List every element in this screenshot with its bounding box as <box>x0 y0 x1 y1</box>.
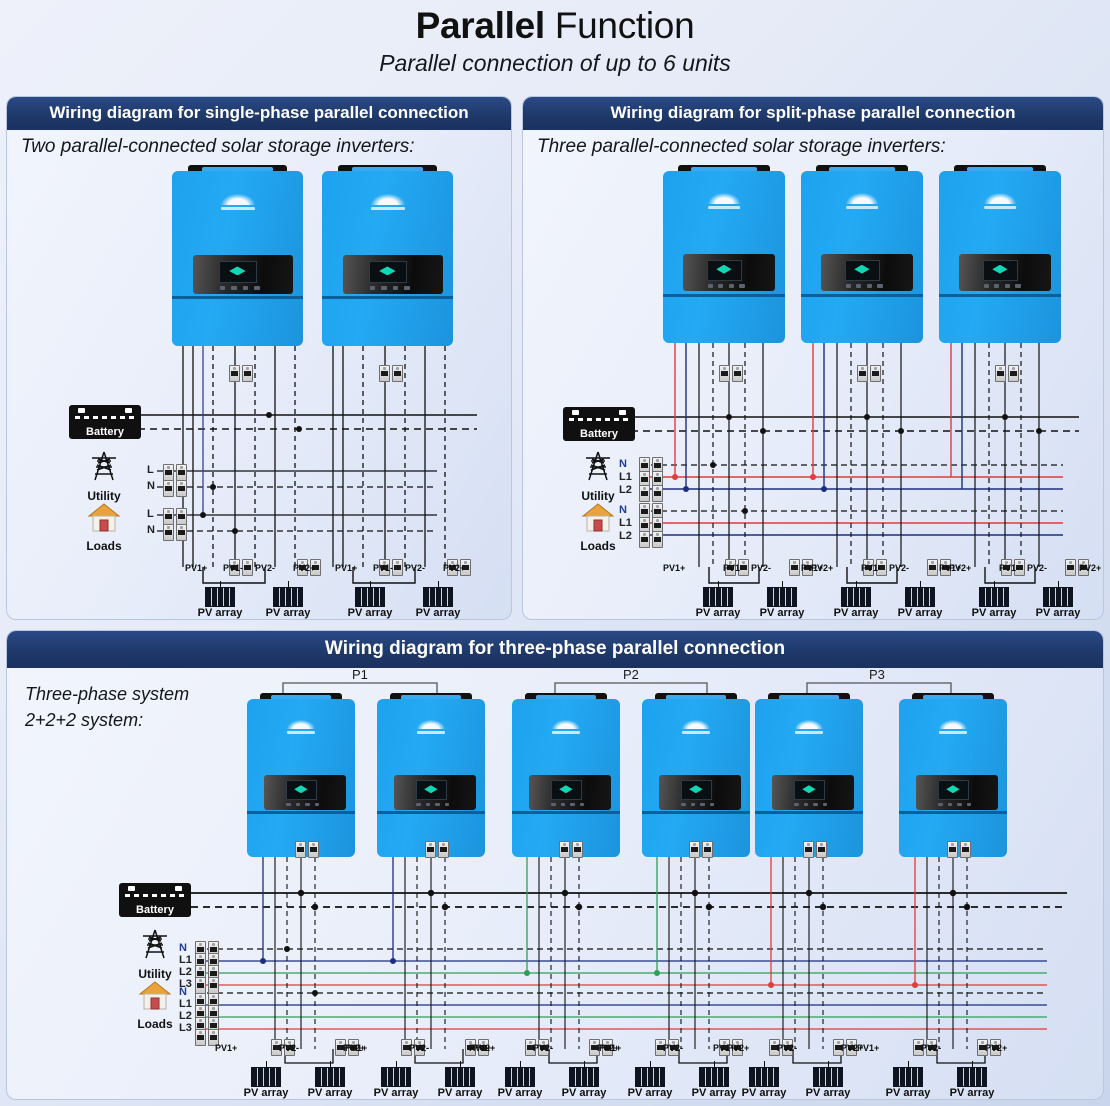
page-subtitle: Parallel connection of up to 6 units <box>0 50 1110 77</box>
pv-terminal-label: PV1+ <box>599 1043 621 1053</box>
utility-phase-label: L <box>147 464 154 476</box>
battery-label: Battery <box>69 426 141 438</box>
house-icon <box>87 501 121 533</box>
loads-block: Loads <box>123 979 187 1031</box>
pv-terminal-label: PV2- <box>1027 563 1047 573</box>
utility-block: Utility <box>73 449 135 503</box>
breaker[interactable] <box>229 365 253 382</box>
breaker[interactable] <box>425 841 449 858</box>
pv-terminal-label: PV1- <box>373 563 393 573</box>
loads-phase-label: L2 <box>619 530 632 542</box>
breaker[interactable] <box>163 464 187 481</box>
pv-array-caption: PV array <box>555 1087 613 1099</box>
pv-array-caption: PV array <box>879 1087 937 1099</box>
pv-module-icon <box>355 587 385 607</box>
page-title-rest: Function <box>545 5 695 46</box>
breaker[interactable] <box>639 485 663 502</box>
house-icon <box>581 501 615 533</box>
loads-phase-label: L3 <box>179 1022 192 1034</box>
pv-terminal-label: PV1+ <box>801 563 823 573</box>
page-title-bold: Parallel <box>416 5 545 46</box>
loads-phase-label: L2 <box>179 1010 192 1022</box>
pv-terminal-label: PV1+ <box>939 563 961 573</box>
pv-terminal-label: PV1+ <box>713 1043 735 1053</box>
loads-phase-label: L <box>147 508 154 520</box>
loads-phase-label: N <box>619 504 627 516</box>
breaker[interactable] <box>947 841 971 858</box>
pv-module-icon <box>813 1067 843 1087</box>
split-phase-diagram: Battery Utility Loads N L1 L2 N L1 L2 <box>523 97 1103 619</box>
panel-three-phase: Wiring diagram for three-phase parallel … <box>6 630 1104 1100</box>
pv-terminal-label: PV1- <box>999 563 1019 573</box>
loads-phase-label: L1 <box>179 998 192 1010</box>
pv-terminal-label: PV2+ <box>293 563 315 573</box>
pv-module-icon <box>273 587 303 607</box>
pv-terminal-label: PV2+ <box>985 1043 1007 1053</box>
battery-terminals <box>119 886 191 891</box>
pv-module-icon <box>893 1067 923 1087</box>
pv-terminal-label: PV2- <box>777 1043 797 1053</box>
breaker[interactable] <box>857 365 881 382</box>
utility-phase-label: N <box>179 942 187 954</box>
pv-terminal-label: PV1- <box>223 563 243 573</box>
pv-array-caption: PV array <box>751 607 813 619</box>
breaker[interactable] <box>689 841 713 858</box>
pv-module-icon <box>979 587 1009 607</box>
battery-block: Battery <box>563 407 635 441</box>
breaker[interactable] <box>163 480 187 497</box>
breaker[interactable] <box>559 841 583 858</box>
battery-cells <box>75 416 135 419</box>
loads-label: Loads <box>73 539 135 553</box>
pv-terminal-label: PV1+ <box>469 1043 491 1053</box>
breaker[interactable] <box>719 365 743 382</box>
pv-terminal-label: PV1- <box>861 563 881 573</box>
pv-terminal-label: PV2- <box>533 1043 553 1053</box>
breaker[interactable] <box>803 841 827 858</box>
pv-module-icon <box>957 1067 987 1087</box>
breaker[interactable] <box>995 365 1019 382</box>
utility-phase-label: L1 <box>179 954 192 966</box>
pv-array-caption: PV array <box>187 607 253 619</box>
panel-single-phase: Wiring diagram for single-phase parallel… <box>6 96 512 620</box>
transmission-tower-icon <box>87 449 121 483</box>
pv-module-icon <box>703 587 733 607</box>
pv-module-icon <box>445 1067 475 1087</box>
pv-terminal-label: PV2- <box>279 1043 299 1053</box>
transmission-tower-icon <box>581 449 615 483</box>
pv-terminal-label: PV2- <box>889 563 909 573</box>
battery-label: Battery <box>119 904 191 916</box>
house-icon <box>138 979 172 1011</box>
pv-array-caption: PV array <box>825 607 887 619</box>
pv-terminal-label: PV1+ <box>857 1043 879 1053</box>
pv-array-caption: PV array <box>1027 607 1089 619</box>
group-label-p1: P1 <box>352 667 368 682</box>
utility-phase-label: L2 <box>619 484 632 496</box>
pv-array-caption: PV array <box>735 1087 793 1099</box>
battery-terminals <box>69 408 141 413</box>
pv-module-icon <box>381 1067 411 1087</box>
transmission-tower-icon <box>138 927 172 961</box>
utility-block: Utility <box>123 927 187 981</box>
utility-phase-label: N <box>147 480 155 492</box>
battery-terminals <box>563 410 635 415</box>
pv-terminal-label: PV1+ <box>185 563 207 573</box>
pv-terminal-label: PV2+ <box>1079 563 1101 573</box>
pv-module-icon <box>767 587 797 607</box>
pv-array-caption: PV array <box>491 1087 549 1099</box>
group-label-p3: P3 <box>869 667 885 682</box>
pv-module-icon <box>749 1067 779 1087</box>
pv-terminal-label: PV1- <box>723 563 743 573</box>
pv-terminal-label: PV2- <box>921 1043 941 1053</box>
pv-array-caption: PV array <box>255 607 321 619</box>
loads-phase-label: L1 <box>619 517 632 529</box>
battery-cells <box>125 894 185 897</box>
pv-module-icon <box>315 1067 345 1087</box>
pv-module-icon <box>251 1067 281 1087</box>
pv-terminal-label: PV2+ <box>443 563 465 573</box>
page-header: Parallel Function Parallel connection of… <box>0 0 1110 77</box>
pv-module-icon <box>635 1067 665 1087</box>
single-phase-diagram: Battery Utility Loads L N L <box>7 97 511 619</box>
battery-label: Battery <box>563 428 635 440</box>
pv-module-icon <box>423 587 453 607</box>
loads-phase-label: N <box>147 524 155 536</box>
pv-terminal-label: PV2- <box>255 563 275 573</box>
pv-array-caption: PV array <box>405 607 471 619</box>
pv-module-icon <box>205 587 235 607</box>
pv-array-caption: PV array <box>431 1087 489 1099</box>
breaker[interactable] <box>163 524 187 541</box>
utility-phase-label: L1 <box>619 471 632 483</box>
pv-array-caption: PV array <box>337 607 403 619</box>
breaker[interactable] <box>195 977 219 994</box>
loads-label: Loads <box>123 1017 187 1031</box>
breaker[interactable] <box>639 531 663 548</box>
panel-split-phase: Wiring diagram for split-phase parallel … <box>522 96 1104 620</box>
utility-phase-label: N <box>619 458 627 470</box>
pv-array-caption: PV array <box>301 1087 359 1099</box>
loads-phase-label: N <box>179 986 187 998</box>
pv-module-icon <box>505 1067 535 1087</box>
pv-terminal-label: PV2- <box>409 1043 429 1053</box>
pv-array-caption: PV array <box>943 1087 1001 1099</box>
pv-module-icon <box>699 1067 729 1087</box>
pv-array-caption: PV array <box>621 1087 679 1099</box>
utility-phase-label: L2 <box>179 966 192 978</box>
breaker[interactable] <box>379 365 403 382</box>
pv-terminal-label: PV1+ <box>215 1043 237 1053</box>
breaker[interactable] <box>295 841 319 858</box>
battery-cells <box>569 418 629 421</box>
battery-block: Battery <box>69 405 141 439</box>
page-title: Parallel Function <box>0 4 1110 48</box>
pv-array-caption: PV array <box>237 1087 295 1099</box>
loads-block: Loads <box>73 501 135 553</box>
pv-module-icon <box>841 587 871 607</box>
pv-terminal-label: PV1+ <box>335 563 357 573</box>
pv-terminal-label: PV1+ <box>345 1043 367 1053</box>
pv-array-caption: PV array <box>687 607 749 619</box>
battery-block: Battery <box>119 883 191 917</box>
pv-array-caption: PV array <box>799 1087 857 1099</box>
breaker[interactable] <box>163 508 187 525</box>
pv-terminal-label: PV2- <box>751 563 771 573</box>
pv-terminal-label: PV2- <box>405 563 425 573</box>
group-label-p2: P2 <box>623 667 639 682</box>
pv-module-icon <box>905 587 935 607</box>
pv-terminal-label: PV2- <box>663 1043 683 1053</box>
pv-module-icon <box>1043 587 1073 607</box>
pv-module-icon <box>569 1067 599 1087</box>
three-phase-diagram: P1 P2 P3 Battery Utility Loads <box>7 631 1103 1099</box>
pv-array-caption: PV array <box>367 1087 425 1099</box>
pv-array-caption: PV array <box>963 607 1025 619</box>
pv-terminal-label: PV1+ <box>663 563 685 573</box>
pv-array-caption: PV array <box>889 607 951 619</box>
